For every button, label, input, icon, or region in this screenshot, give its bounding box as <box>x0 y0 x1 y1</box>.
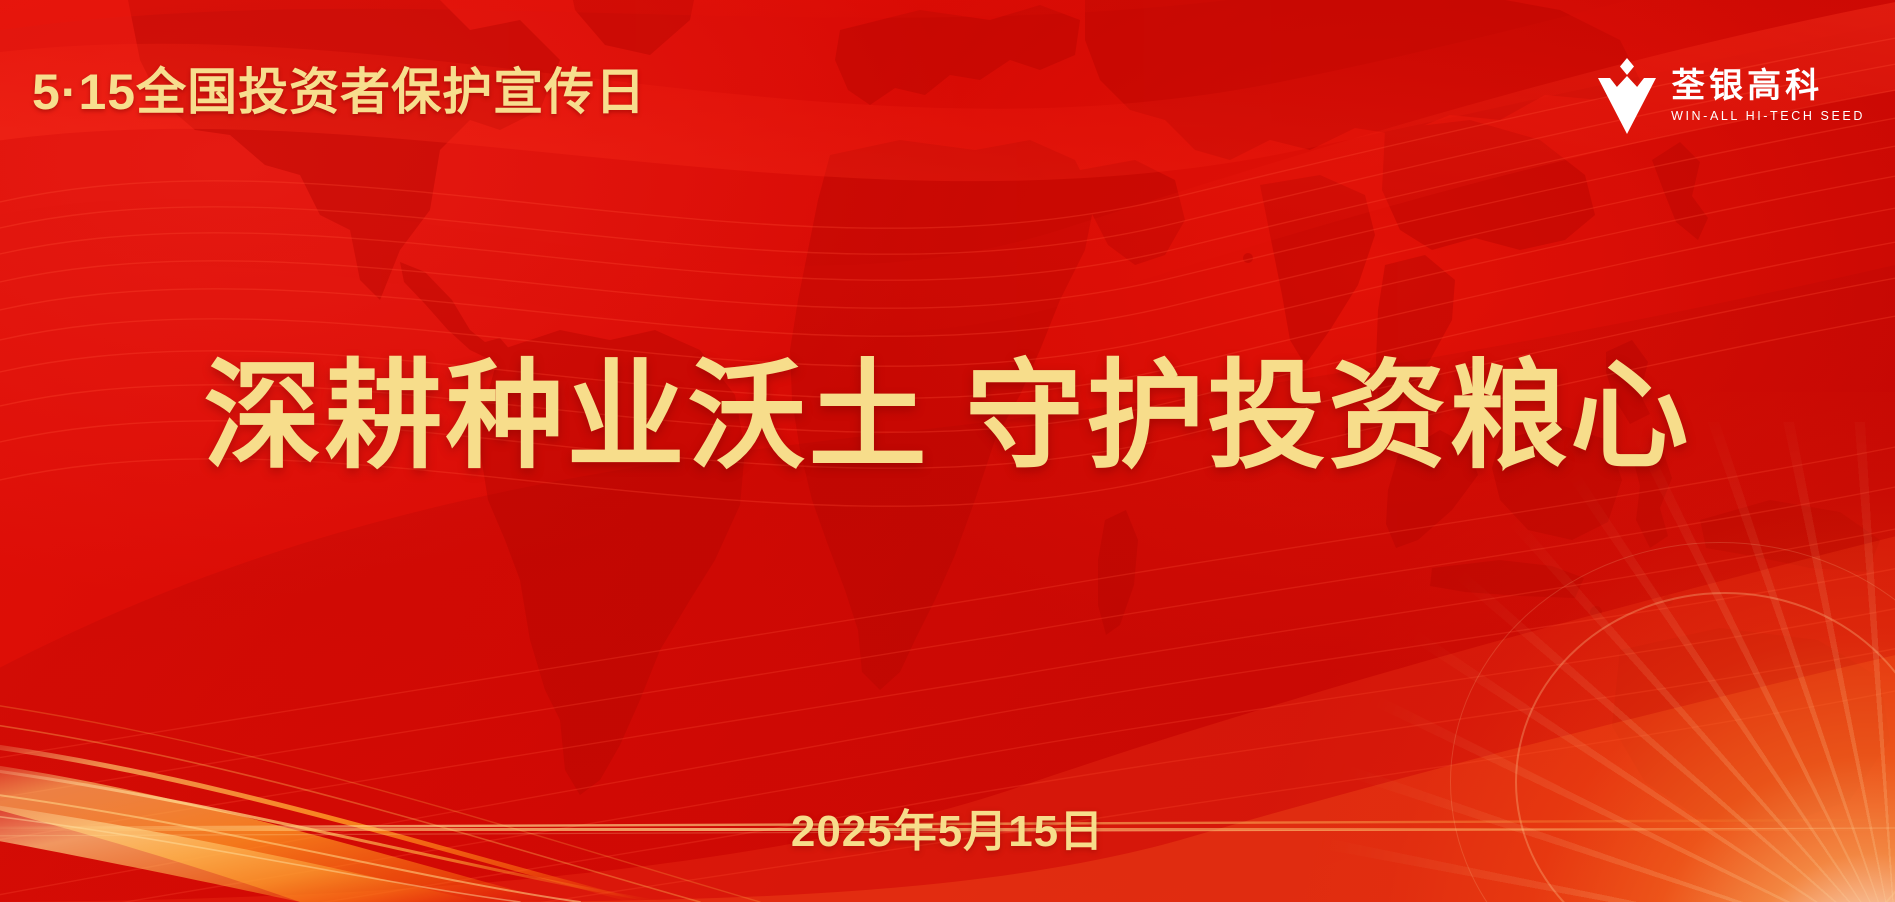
company-name-en: WIN-ALL HI-TECH SEED <box>1671 109 1865 123</box>
event-date: 2025年5月15日 <box>0 795 1895 859</box>
banner-content: 5·15全国投资者保护宣传日 荃银高科 WIN-ALL HI-TECH SEED… <box>0 0 1895 902</box>
company-name-cn: 荃银高科 <box>1671 69 1865 105</box>
campaign-title: 5·15全国投资者保护宣传日 <box>32 52 646 124</box>
logo-text-block: 荃银高科 WIN-ALL HI-TECH SEED <box>1671 69 1865 123</box>
main-slogan: 深耕种业沃土 守护投资粮心 <box>0 348 1895 487</box>
company-logo: 荃银高科 WIN-ALL HI-TECH SEED <box>1598 56 1865 136</box>
win-all-chevron-logo-icon <box>1598 56 1656 136</box>
investor-protection-banner: 5·15全国投资者保护宣传日 荃银高科 WIN-ALL HI-TECH SEED… <box>0 0 1895 902</box>
